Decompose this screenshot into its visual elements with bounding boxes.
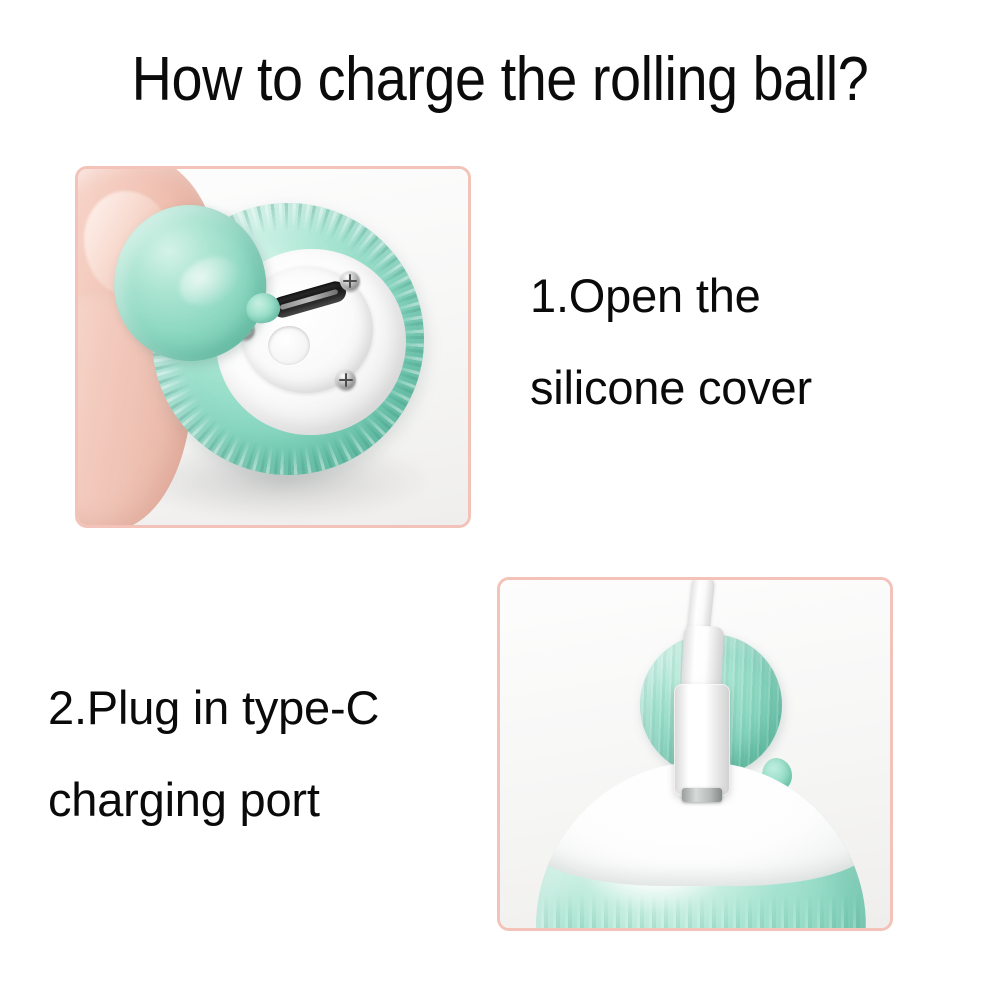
step-2-caption-line-1: 2.Plug in type-C	[48, 662, 379, 754]
step-1-photo-panel	[75, 166, 471, 528]
phillips-screw-icon	[340, 271, 360, 291]
phillips-screw-icon	[336, 370, 356, 390]
step-2-caption-line-2: charging port	[48, 754, 379, 846]
cover-gloss-highlight	[171, 247, 246, 315]
infographic-page: How to charge the rolling ball?	[0, 0, 1000, 1000]
step-2-photo-panel	[497, 577, 893, 931]
step-2-photo	[500, 580, 890, 928]
step-2-caption: 2.Plug in type-C charging port	[48, 662, 379, 846]
step-1-photo	[78, 169, 468, 525]
usb-c-plug-body	[674, 684, 730, 796]
step-1-caption-line-1: 1.Open the	[530, 250, 812, 342]
usb-c-plug-metal-tip	[682, 788, 722, 802]
step-1-caption: 1.Open the silicone cover	[530, 250, 812, 434]
step-1-caption-line-2: silicone cover	[530, 342, 812, 434]
page-title: How to charge the rolling ball?	[50, 46, 950, 114]
